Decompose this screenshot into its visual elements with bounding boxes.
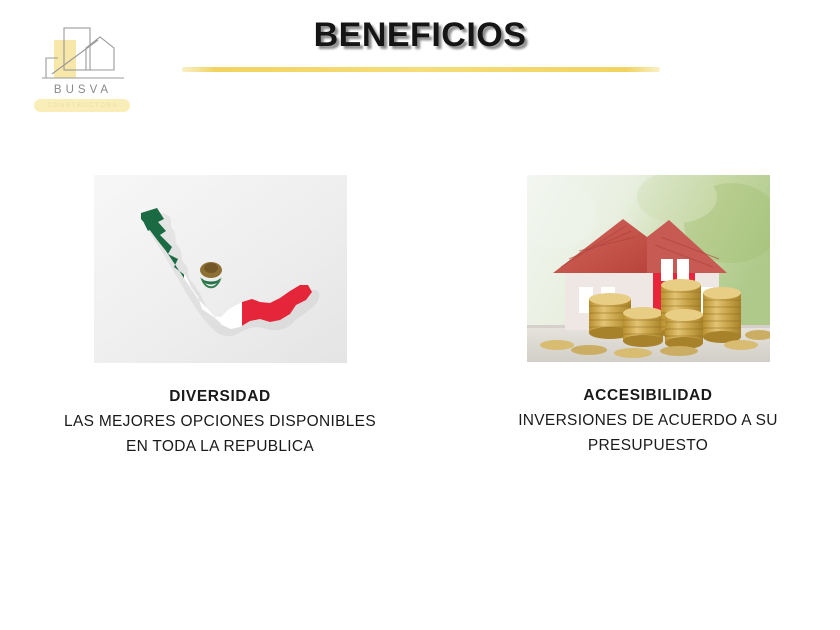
logo-tagline-pill: CONSTRUCTORA [34,99,130,112]
benefit-column-diversidad: DIVERSIDAD LAS MEJORES OPCIONES DISPONIB… [18,175,422,459]
benefit-body-line-1: LAS MEJORES OPCIONES DISPONIBLES [18,409,422,434]
benefit-title: DIVERSIDAD [18,385,422,409]
page-title: BENEFICIOS [0,16,840,55]
mexico-map-flag-image [94,175,347,363]
logo-tagline: CONSTRUCTORA [46,103,119,109]
benefit-column-accesibilidad: ACCESIBILIDAD INVERSIONES DE ACUERDO A S… [456,175,840,458]
benefit-caption-accesibilidad: ACCESIBILIDAD INVERSIONES DE ACUERDO A S… [456,384,840,458]
benefit-body-line-1: INVERSIONES DE ACUERDO A SU [456,408,840,433]
slide-canvas: BUSVA CONSTRUCTORA BENEFICIOS [0,0,840,630]
house-and-coins-image [527,175,770,362]
benefit-title: ACCESIBILIDAD [456,384,840,408]
logo-wordmark: BUSVA [28,84,134,96]
benefit-body-line-2: PRESUPUESTO [456,433,840,458]
benefit-caption-diversidad: DIVERSIDAD LAS MEJORES OPCIONES DISPONIB… [18,385,422,459]
title-underline-divider [182,67,660,72]
benefit-body-line-2: EN TODA LA REPUBLICA [18,434,422,459]
